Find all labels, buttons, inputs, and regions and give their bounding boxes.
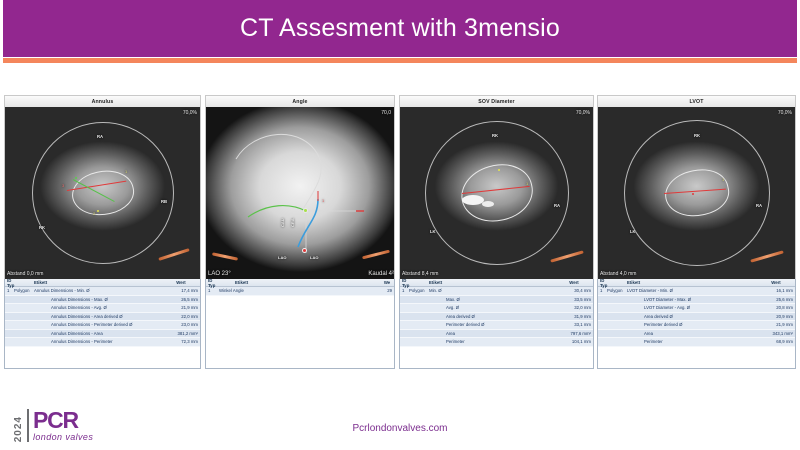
calcification-blob: [462, 195, 484, 205]
anat-label-lk: LK: [630, 229, 636, 234]
col-head-id: ID Typ: [402, 279, 409, 288]
cell-value: 20,8 mm: [759, 305, 793, 310]
kaudal-angle-label: Kaudal 4²: [368, 271, 394, 277]
page-title: CT Assesment with 3mensio: [3, 0, 797, 57]
tick-label-2: 2: [93, 211, 95, 216]
cell-label: LVOT Diameter - Max. Ø: [627, 297, 759, 302]
tick-label-1: 1: [722, 177, 724, 182]
panel-row: Annulus 1 2 3 RA RB RK 70,0% Abstand 0,0…: [0, 95, 800, 380]
panel-header-lvot: LVOT: [597, 95, 796, 107]
cell-value: 32,0 mm: [557, 305, 591, 310]
anat-label-ra: RA: [554, 203, 560, 208]
table-lvot[interactable]: ID Typ Etikett Wert 1 Polygon LVOT Diame…: [597, 279, 796, 369]
col-head-value: Wert: [759, 280, 793, 285]
table-row[interactable]: 1 Polygon LVOT Diameter - Min. Ø 16,1 mm: [598, 287, 795, 296]
col-head-label: Etikett: [34, 280, 164, 285]
cell-value: 22,0 mm: [164, 314, 198, 319]
col-head-label: Etikett: [627, 280, 759, 285]
zoom-percent-label: 70,0%: [576, 110, 590, 116]
cell-value: 104,1 mm: [557, 339, 591, 344]
marker-dot-green: [75, 177, 77, 179]
table-header-row: ID Typ Etikett Wert: [400, 279, 593, 287]
marker-dot-yellow: [97, 210, 99, 212]
panel-angle[interactable]: Angle 1 LAO LAO CAU CRA: [205, 95, 395, 369]
table-header-row: ID Typ Etikett Wert: [598, 279, 795, 287]
anat-label-rb: RB: [161, 199, 167, 204]
table-row[interactable]: 1 Polygon Annulus Dimensions - Min. Ø 17…: [5, 287, 200, 296]
cell-typ: Polygon: [409, 288, 429, 293]
cell-value: 23,0 mm: [164, 322, 198, 327]
cell-id: 1: [7, 288, 14, 293]
panel-lvot[interactable]: LVOT 1 RK RA LK 70,0% Abstand 4,0 mm ID …: [597, 95, 796, 369]
cell-label: Annulus Dimensions - Avg. Ø: [34, 305, 164, 310]
cell-label: Min. Ø: [429, 288, 557, 293]
zoom-percent-label: 70,0%: [183, 110, 197, 116]
table-row[interactable]: Annulus Dimensions - Perimeter derived Ø…: [5, 321, 200, 330]
cell-value: 17,4 mm: [164, 288, 198, 293]
table-header-row: ID Typ Etikett Wert: [5, 279, 200, 287]
cell-label: Perimeter: [627, 339, 759, 344]
table-row[interactable]: Perimeter 104,1 mm: [400, 338, 593, 347]
panel-header-sov: SOV Diameter: [399, 95, 594, 107]
table-row[interactable]: Annulus Dimensions - Area 381,2 mm²: [5, 330, 200, 339]
cell-value: 797,6 mm²: [557, 331, 591, 336]
cell-label: LVOT Diameter - Avg. Ø: [627, 305, 759, 310]
tick-label-1: 1: [125, 169, 127, 174]
col-head-id: ID Typ: [208, 279, 215, 288]
cell-value: 343,1 mm²: [759, 331, 793, 336]
slide-footer: 2024 PCR london valves Pcrlondonvalves.c…: [0, 390, 800, 450]
logo-subtitle: london valves: [33, 433, 93, 442]
slide-root: CT Assesment with 3mensio Annulus 1 2 3 …: [0, 0, 800, 450]
table-row[interactable]: Annulus Dimensions - Perimeter 72,3 mm: [5, 338, 200, 347]
col-head-label: Etikett: [429, 280, 557, 285]
cell-label: Perimeter derived Ø: [429, 322, 557, 327]
calcification-blob-2: [482, 201, 494, 207]
panel-image-sov[interactable]: 1 RK RA LK 70,0% Abstand 8,4 mm: [399, 107, 594, 279]
cell-id: 1: [402, 288, 409, 293]
cell-value: 31,9 mm: [557, 314, 591, 319]
cell-value: 33,1 mm: [557, 322, 591, 327]
panel-header-angle: Angle: [205, 95, 395, 107]
anat-label-rk: RK: [39, 225, 45, 230]
cell-label: Max. Ø: [429, 297, 557, 302]
cell-label: Perimeter: [429, 339, 557, 344]
tick-label-1: 1: [322, 198, 324, 203]
tick-label-1: 1: [526, 181, 528, 186]
cell-label: Annulus Dimensions - Min. Ø: [34, 288, 164, 293]
panel-annulus[interactable]: Annulus 1 2 3 RA RB RK 70,0% Abstand 0,0…: [4, 95, 201, 369]
table-row[interactable]: Max. Ø 33,5 mm: [400, 296, 593, 305]
table-row[interactable]: LVOT Diameter - Max. Ø 25,6 mm: [598, 296, 795, 305]
cell-value: 29: [382, 288, 392, 293]
website-url: Pcrlondonvalves.com: [0, 423, 800, 434]
cell-label: Annulus Dimensions - Max. Ø: [34, 297, 164, 302]
cell-label: Perimeter derived Ø: [627, 322, 759, 327]
table-header-row: ID Typ Etikett We: [206, 279, 394, 287]
cell-label: Area: [429, 331, 557, 336]
anat-label-rk: RK: [492, 133, 498, 138]
zoom-percent-label: 70,0: [381, 110, 391, 116]
table-sov[interactable]: ID Typ Etikett Wert 1 Polygon Min. Ø 30,…: [399, 279, 594, 369]
cell-value: 33,5 mm: [557, 297, 591, 302]
cell-value: 21,9 mm: [759, 322, 793, 327]
table-row[interactable]: 1 Polygon Min. Ø 30,4 mm: [400, 287, 593, 296]
marker-dot-red: [692, 193, 694, 195]
view-label-cra: CAU: [280, 218, 285, 227]
anat-label-ra: RA: [756, 203, 762, 208]
table-annulus[interactable]: ID Typ Etikett Wert 1 Polygon Annulus Di…: [4, 279, 201, 369]
table-row[interactable]: Avg. Ø 32,0 mm: [400, 304, 593, 313]
table-row[interactable]: Area derived Ø 20,9 mm: [598, 313, 795, 322]
view-label-lao-left: LAO: [278, 255, 286, 260]
col-head-id: ID Typ: [7, 279, 14, 288]
cell-label: Annulus Dimensions - Area: [34, 331, 164, 336]
table-row[interactable]: Perimeter derived Ø 33,1 mm: [400, 321, 593, 330]
table-row[interactable]: Area derived Ø 31,9 mm: [400, 313, 593, 322]
tick-label-3: 3: [62, 183, 64, 188]
cell-label: Annulus Dimensions - Perimeter: [34, 339, 164, 344]
cell-typ: Polygon: [607, 288, 627, 293]
cell-value: 21,9 mm: [164, 305, 198, 310]
table-row[interactable]: Annulus Dimensions - Area derived Ø 22,0…: [5, 313, 200, 322]
cell-value: 20,9 mm: [759, 314, 793, 319]
table-row[interactable]: 1 Winkel Angle 29: [206, 287, 394, 296]
distance-label: Abstand 8,4 mm: [402, 271, 438, 277]
cell-value: 26,5 mm: [164, 297, 198, 302]
cell-label: Avg. Ø: [429, 305, 557, 310]
table-row[interactable]: Perimeter derived Ø 21,9 mm: [598, 321, 795, 330]
col-head-value: Wert: [164, 280, 198, 285]
cell-value: 16,1 mm: [759, 288, 793, 293]
table-row[interactable]: Area 343,1 mm²: [598, 330, 795, 339]
table-row[interactable]: Perimeter 68,9 mm: [598, 338, 795, 347]
col-head-value: We: [382, 280, 392, 285]
cell-label: Area: [627, 331, 759, 336]
anat-label-ra: RA: [97, 134, 103, 139]
cell-value: 25,6 mm: [759, 297, 793, 302]
distance-label: Abstand 0,0 mm: [7, 271, 43, 277]
col-head-value: Wert: [557, 280, 591, 285]
anat-label-rk: RK: [694, 133, 700, 138]
distance-label: Abstand 4,0 mm: [600, 271, 636, 277]
cell-label: Area derived Ø: [627, 314, 759, 319]
cell-value: 68,9 mm: [759, 339, 793, 344]
cell-value: 72,3 mm: [164, 339, 198, 344]
view-label-lao-right: LAO: [310, 255, 318, 260]
table-row[interactable]: Annulus Dimensions - Max. Ø 26,5 mm: [5, 296, 200, 305]
cell-label: Area derived Ø: [429, 314, 557, 319]
cell-label: Annulus Dimensions - Area derived Ø: [34, 314, 164, 319]
table-row[interactable]: Annulus Dimensions - Avg. Ø 21,9 mm: [5, 304, 200, 313]
center-marker: [303, 208, 308, 213]
zoom-percent-label: 70,0%: [778, 110, 792, 116]
col-head-label: Etikett: [235, 280, 382, 285]
panel-image-lvot[interactable]: 1 RK RA LK 70,0% Abstand 4,0 mm: [597, 107, 796, 279]
cell-label: LVOT Diameter - Min. Ø: [627, 288, 759, 293]
accent-divider: [3, 58, 797, 63]
panel-image-annulus[interactable]: 1 2 3 RA RB RK 70,0% Abstand 0,0 mm: [4, 107, 201, 279]
table-row[interactable]: Area 797,6 mm²: [400, 330, 593, 339]
cell-label: Annulus Dimensions - Perimeter derived Ø: [34, 322, 164, 327]
table-angle[interactable]: ID Typ Etikett We 1 Winkel Angle 29: [205, 279, 395, 369]
title-band: CT Assesment with 3mensio: [3, 0, 797, 57]
marker-dot-yellow: [498, 169, 500, 171]
anat-label-lk: LK: [430, 229, 436, 234]
cell-value: 30,4 mm: [557, 288, 591, 293]
col-head-id: ID Typ: [600, 279, 607, 288]
cell-typ: Polygon: [14, 288, 34, 293]
panel-sov-diameter[interactable]: SOV Diameter 1 RK RA LK 70,0% Abstand 8,…: [399, 95, 594, 369]
cell-value: 381,2 mm²: [164, 331, 198, 336]
angle-curve-overlay: [206, 107, 395, 279]
pivot-marker: [302, 248, 307, 253]
cell-id: 1: [208, 288, 215, 293]
panel-header-annulus: Annulus: [4, 95, 201, 107]
panel-image-angle[interactable]: 1 LAO LAO CAU CRA 70,0 LAO 23° Kaudal 4²: [205, 107, 395, 279]
lao-angle-label: LAO 23°: [208, 271, 231, 277]
table-row[interactable]: LVOT Diameter - Avg. Ø 20,8 mm: [598, 304, 795, 313]
cell-id: 1: [600, 288, 607, 293]
view-label-cau: CRA: [290, 218, 295, 227]
cell-label: Winkel Angle: [219, 288, 382, 293]
